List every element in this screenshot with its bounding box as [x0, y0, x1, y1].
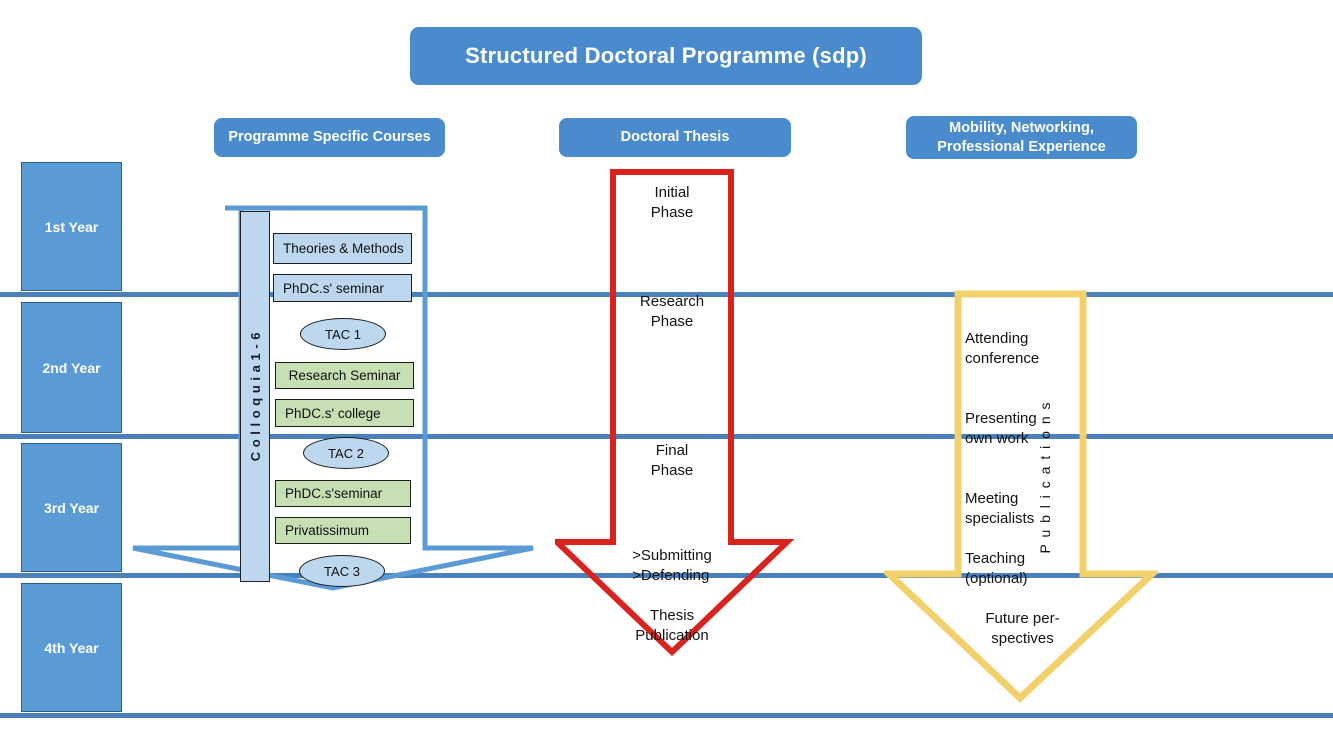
milestone-tac-3[interactable]: TAC 3: [299, 555, 385, 587]
mobility-item-teaching-optional: Teaching (optional): [965, 549, 1085, 589]
thesis-phase-research: Research Phase: [613, 292, 731, 332]
publications-vertical-label: P u b l i c a t i o n s: [1032, 352, 1058, 602]
course-box-phdc-seminar-1[interactable]: PhDC.s' seminar: [273, 274, 412, 302]
year-box-2nd: 2nd Year: [21, 302, 122, 433]
thesis-closing-bullets: >Submitting >Defending: [632, 546, 712, 586]
mobility-item-future-perspectives: Future per- spectives: [955, 609, 1090, 649]
diagram-canvas: Structured Doctoral Programme (sdp) 1st …: [0, 0, 1333, 750]
course-box-theories-methods[interactable]: Theories & Methods: [273, 233, 412, 264]
thesis-phase-initial: Initial Phase: [613, 183, 731, 223]
mobility-item-attending-conference: Attending conference: [965, 329, 1085, 369]
course-box-phdc-seminar-2[interactable]: PhDC.s'seminar: [275, 480, 411, 507]
year-box-4th: 4th Year: [21, 583, 122, 712]
year-box-3rd: 3rd Year: [21, 443, 122, 572]
course-box-phdc-college[interactable]: PhDC.s' college: [275, 399, 414, 427]
year-divider-4: [0, 713, 1333, 718]
milestone-tac-1[interactable]: TAC 1: [300, 318, 386, 350]
thesis-closing-lines: Thesis Publication: [635, 607, 708, 644]
page-title: Structured Doctoral Programme (sdp): [410, 27, 922, 85]
course-box-privatissimum[interactable]: Privatissimum: [275, 517, 411, 544]
thesis-phase-final: Final Phase: [613, 441, 731, 481]
column-header-courses: Programme Specific Courses: [214, 118, 445, 157]
thesis-closing-block: >Submitting >Defending Thesis Publicatio…: [613, 526, 731, 646]
mobility-item-presenting-own-work: Presenting own work: [965, 409, 1085, 449]
colloquia-vertical-label-text: C o l l o q u i a 1 - 6: [248, 332, 263, 461]
milestone-tac-2[interactable]: TAC 2: [303, 437, 389, 469]
column-header-thesis: Doctoral Thesis: [559, 118, 791, 157]
mobility-item-meeting-specialists: Meeting specialists: [965, 489, 1085, 529]
year-box-1st: 1st Year: [21, 162, 122, 291]
publications-vertical-label-text: P u b l i c a t i o n s: [1037, 401, 1053, 554]
column-header-mobility: Mobility, Networking, Professional Exper…: [906, 116, 1137, 159]
colloquia-vertical-label: C o l l o q u i a 1 - 6: [240, 211, 270, 582]
course-box-research-seminar[interactable]: Research Seminar: [275, 362, 414, 389]
